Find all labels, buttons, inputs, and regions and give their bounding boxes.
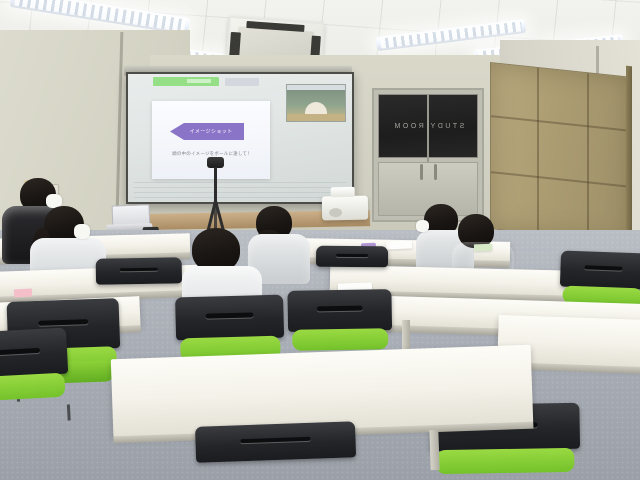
window-tab: [225, 78, 259, 86]
slide-arrow-icon: イメージショット: [170, 123, 244, 140]
partition-seam: [537, 68, 539, 233]
pink-sticky-note: [14, 289, 32, 298]
video-thumbnail: [286, 84, 346, 122]
projection-screen: イメージショット 頭の中のイメージをボールに遠して！: [126, 72, 354, 204]
taskbar-highlight: [153, 77, 219, 86]
video-titlebar: [287, 85, 345, 90]
door[interactable]: STUDY ROOM: [372, 88, 484, 222]
handout-paper: [474, 244, 492, 252]
chair[interactable]: [0, 328, 70, 413]
chair[interactable]: [316, 246, 388, 283]
photo-scene: STUDY ROOM イメージショット 頭の中のイメージをボールに遠して！: [0, 0, 640, 480]
video-ground: [287, 114, 345, 121]
tripod-column: [214, 167, 217, 203]
partition-seam: [491, 171, 631, 188]
door-handle[interactable]: [420, 164, 423, 180]
door-handle[interactable]: [434, 164, 437, 180]
face-mask: [416, 220, 429, 232]
chair[interactable]: [195, 421, 357, 480]
projector-unit: [322, 196, 368, 221]
partition-seam: [491, 115, 631, 132]
face-mask: [74, 224, 90, 239]
slide-footer-text: [134, 182, 346, 198]
table-leg: [429, 430, 439, 470]
handout-paper: [386, 240, 412, 249]
slide-arrow-label: イメージショット: [189, 128, 232, 135]
